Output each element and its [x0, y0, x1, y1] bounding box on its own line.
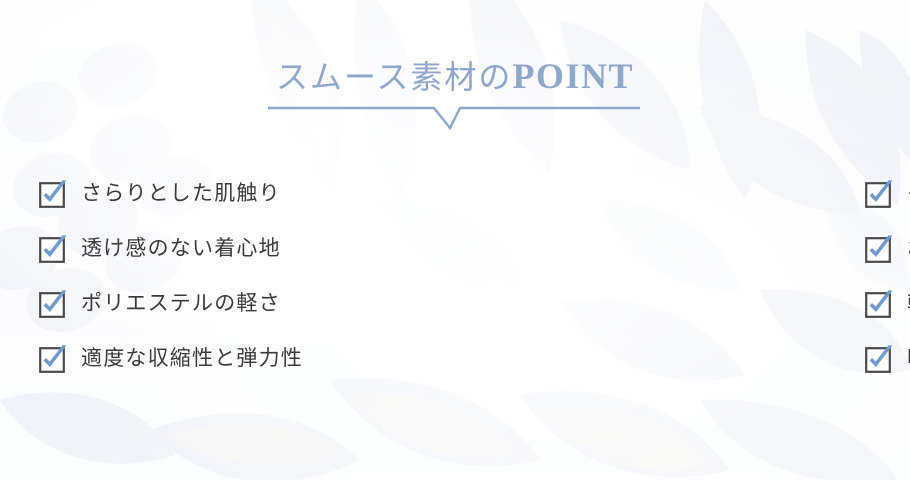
checkbox-checked-icon	[38, 288, 69, 319]
list-item-label: ポリエステルの軽さ	[81, 293, 281, 314]
checkbox-checked-icon	[38, 178, 69, 209]
checkbox-checked-icon	[38, 233, 69, 264]
checkbox-checked-icon	[38, 343, 69, 374]
page-title: スムース素材のPOINT	[0, 58, 910, 94]
checkbox-checked-icon	[864, 233, 895, 264]
list-item: 透け感のない着心地	[38, 221, 413, 276]
list-item: お洗濯でも型くずれしにくい	[864, 221, 910, 276]
title-japanese: スムース素材の	[276, 59, 512, 95]
list-item: 適度な収縮性と弾力性	[38, 331, 413, 386]
smooth-material-point-banner: スムース素材のPOINT さらりとした肌触り	[0, 0, 910, 480]
feature-checklist: さらりとした肌触り 透け感のない着心地 ポリエス	[0, 166, 910, 386]
checkbox-checked-icon	[864, 343, 895, 374]
checklist-column-left: さらりとした肌触り 透け感のない着心地 ポリエス	[0, 166, 413, 386]
list-item-label: さらりとした肌触り	[81, 183, 281, 204]
list-item: 吸汗速乾	[864, 331, 910, 386]
title-underline-with-tail	[268, 104, 640, 132]
checkbox-checked-icon	[864, 178, 895, 209]
checkbox-checked-icon	[864, 288, 895, 319]
title-english: POINT	[512, 56, 634, 96]
list-item: 乾きも早く、シワになりにくい	[864, 276, 910, 331]
checklist-column-right: イージーケアで取り扱いが楽チン お洗濯でも型くずれしにくい	[413, 166, 910, 386]
list-item-label: 透け感のない着心地	[81, 238, 281, 259]
list-item: さらりとした肌触り	[38, 166, 413, 221]
list-item-label: 適度な収縮性と弾力性	[81, 348, 303, 369]
list-item: ポリエステルの軽さ	[38, 276, 413, 331]
list-item: イージーケアで取り扱いが楽チン	[864, 166, 910, 221]
title-text: スムース素材のPOINT	[276, 58, 634, 94]
